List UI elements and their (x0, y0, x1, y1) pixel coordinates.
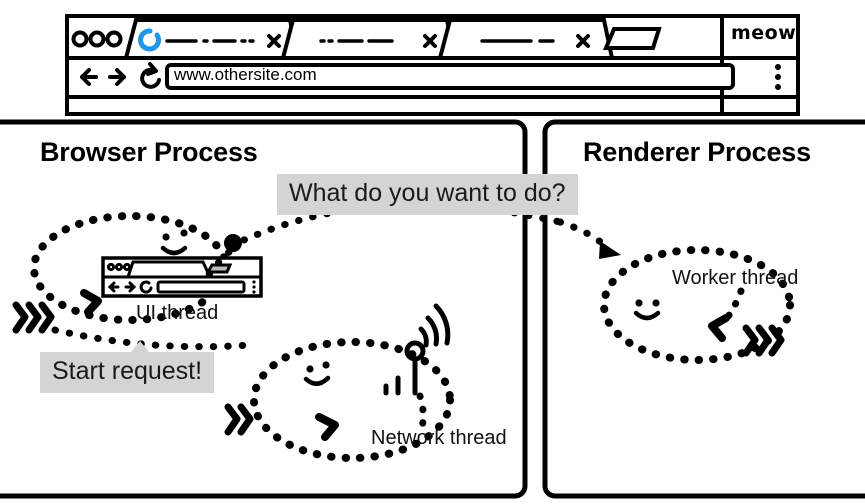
network-thread-inner-arrow (319, 417, 335, 437)
network-thread-label: Network thread (371, 428, 507, 448)
renderer-process-title: Renderer Process (583, 139, 811, 166)
renderer-process-panel (545, 122, 865, 496)
callout-start-request-tail (131, 341, 149, 352)
tab-2[interactable] (283, 20, 455, 58)
callout-start-request: Start request! (40, 352, 214, 393)
ui-thread-label: UI thread (136, 303, 218, 323)
ui-thread-face (162, 229, 187, 253)
kebab-menu-icon[interactable] (775, 64, 781, 90)
browser-brand-label: meow (731, 24, 796, 43)
tab-1[interactable] (126, 20, 298, 58)
worker-thread-motion-marks (746, 328, 781, 353)
browser-process-title: Browser Process (40, 139, 258, 166)
worker-thread-label: Worker thread (672, 268, 798, 288)
address-bar-url[interactable]: www.othersite.com (174, 66, 317, 83)
worker-thread-inner-arrow (712, 318, 726, 338)
diagram-canvas: Browser Process Renderer Process What do… (0, 0, 865, 504)
ui-thread-motion-marks (16, 305, 51, 330)
ui-thread-inner-arrow (84, 293, 98, 312)
new-tab-button[interactable] (606, 29, 659, 48)
network-thread-motion-marks (228, 407, 250, 432)
worker-thread-face (635, 299, 659, 318)
network-thread-face (306, 361, 330, 383)
tab-3[interactable] (440, 20, 612, 58)
browser-window-icon (103, 258, 261, 296)
arrow-ui-to-network (55, 330, 250, 347)
callout-what-do-you-want: What do you want to do? (277, 174, 578, 215)
